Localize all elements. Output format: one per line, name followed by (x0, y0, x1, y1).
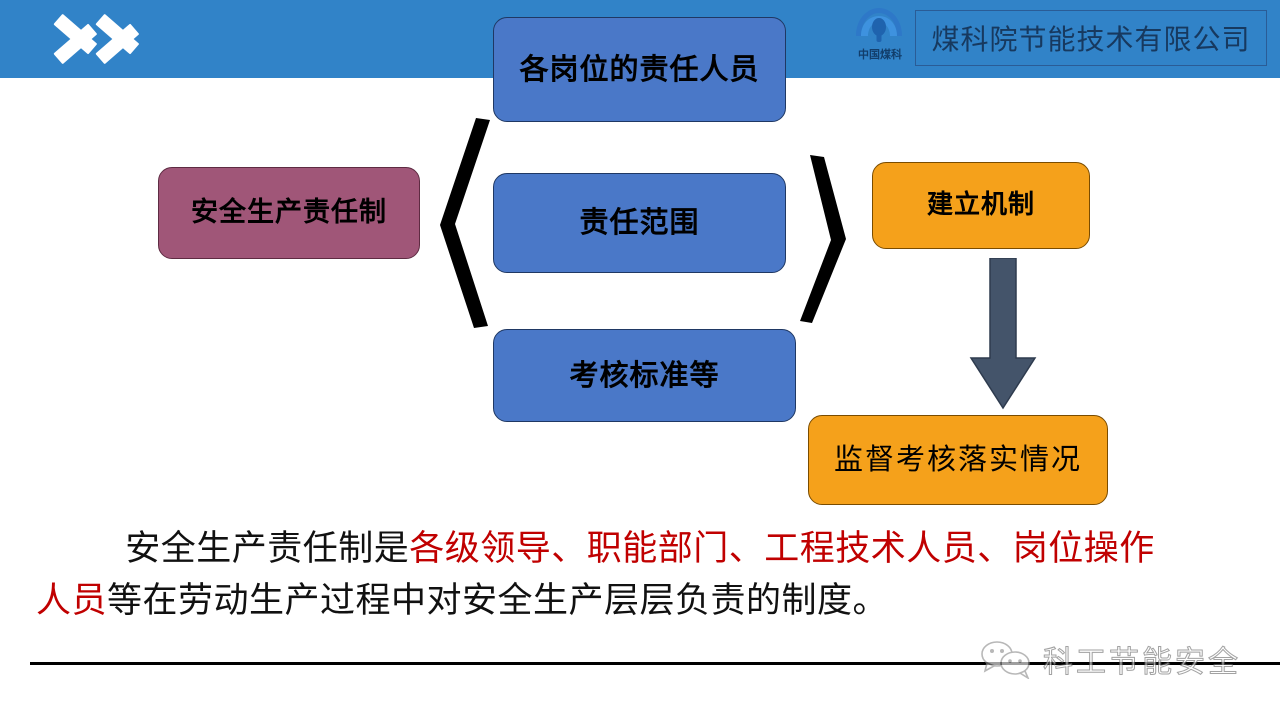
company-name-label: 煤科院节能技术有限公司 (931, 18, 1250, 58)
node-establish-mechanism[interactable]: 建立机制 (872, 162, 1090, 249)
node-label: 责任范围 (579, 207, 699, 239)
company-name-box: 煤科院节能技术有限公司 (915, 10, 1267, 66)
caption-line-1: 安全生产责任制是各级领导、职能部门、工程技术人员、岗位操作 (28, 524, 1252, 576)
logo-caption: 中国煤科 (846, 46, 914, 62)
node-label: 考核标准等 (569, 360, 719, 392)
node-assessment-standards[interactable]: 考核标准等 (493, 329, 796, 422)
company-logo: 中国煤科 (846, 4, 914, 70)
caption-paragraph: 安全生产责任制是各级领导、职能部门、工程技术人员、岗位操作 人员等在劳动生产过程… (28, 524, 1252, 628)
watermark-text: 科工节能安全 (1043, 637, 1241, 681)
caption-line-2: 人员等在劳动生产过程中对安全生产层层负责的制度。 (28, 576, 1252, 628)
watermark: 科工节能安全 (975, 636, 1270, 682)
caption-line1-red: 各级领导、职能部门、工程技术人员、岗位操作 (409, 529, 1155, 569)
node-supervise-assessment-implementation[interactable]: 监督考核落实情况 (808, 415, 1108, 505)
slide-canvas: 中国煤科 煤科院节能技术有限公司 安全生产责任制 各岗位的责任人员 责任范围 考… (0, 0, 1280, 720)
node-post-responsible-persons[interactable]: 各岗位的责任人员 (493, 17, 786, 122)
wechat-bubbles-icon (975, 639, 1037, 679)
node-safety-responsibility-system[interactable]: 安全生产责任制 (158, 167, 420, 259)
node-responsibility-scope[interactable]: 责任范围 (493, 173, 786, 273)
node-label: 各岗位的责任人员 (519, 54, 759, 86)
china-coal-emblem-icon (852, 6, 906, 46)
node-label: 安全生产责任制 (191, 198, 387, 228)
caption-line2-red: 人员 (36, 581, 107, 621)
caption-line2-black: 等在劳动生产过程中对安全生产层层负责的制度。 (107, 581, 888, 621)
angle-bracket-left-icon (440, 118, 490, 328)
chevron-right-icon (100, 0, 162, 82)
caption-line1-black: 安全生产责任制是 (125, 529, 409, 569)
node-label: 建立机制 (927, 191, 1035, 220)
node-label: 监督考核落实情况 (834, 444, 1082, 476)
angle-bracket-right-icon (800, 155, 846, 325)
arrow-down-icon (963, 258, 1043, 410)
